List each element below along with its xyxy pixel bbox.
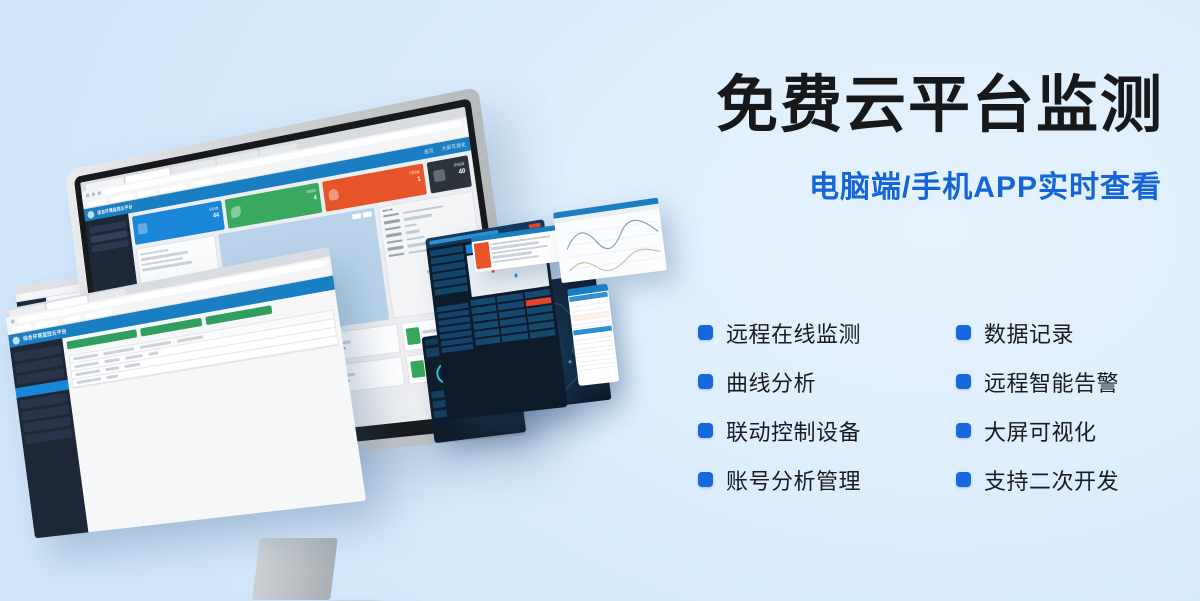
- feature-label: 数据记录: [984, 317, 1074, 349]
- feature-label: 曲线分析: [726, 366, 816, 398]
- stat-label: 在线设备: [306, 188, 316, 194]
- stat-value: 40: [458, 168, 466, 175]
- feature-label: 远程智能告警: [984, 366, 1119, 398]
- bullet-icon: [698, 325, 713, 340]
- promo-text-block: 免费云平台监测 电脑端/手机APP实时查看: [612, 74, 1172, 206]
- feature-item: 数据记录: [956, 308, 1168, 357]
- stat-value: 1: [417, 176, 421, 183]
- leaf-icon: [230, 206, 241, 218]
- chart-window[interactable]: [553, 198, 667, 284]
- bullet-icon: [956, 423, 971, 438]
- bullet-icon: [698, 472, 713, 487]
- feature-item: 曲线分析: [698, 357, 956, 406]
- stat-card-offline[interactable]: 离线设备 40: [427, 155, 472, 193]
- bullet-icon: [956, 374, 971, 389]
- popup-alert-block: [474, 242, 492, 269]
- bullet-icon: [956, 472, 971, 487]
- map-toggle-satellite[interactable]: [352, 213, 361, 220]
- nav-bigscreen[interactable]: 大屏可视化: [441, 141, 466, 152]
- monitor-neck: [252, 538, 338, 600]
- feature-list: 远程在线监测 数据记录 曲线分析 远程智能告警 联动控制设备 大屏可视化 账号分…: [698, 308, 1168, 504]
- stat-value: 4: [313, 195, 317, 202]
- devices-icon: [137, 223, 148, 235]
- bullet-icon: [698, 423, 713, 438]
- feature-item: 支持二次开发: [956, 455, 1168, 504]
- feature-label: 大屏可视化: [984, 415, 1097, 447]
- feature-label: 远程在线监测: [726, 317, 861, 349]
- feature-item: 远程智能告警: [956, 357, 1168, 406]
- bell-icon: [328, 188, 339, 201]
- feature-label: 联动控制设备: [726, 415, 861, 447]
- feature-label: 支持二次开发: [984, 464, 1119, 496]
- feature-label: 账号分析管理: [726, 464, 861, 496]
- feature-item: 联动控制设备: [698, 406, 956, 455]
- cloud-logo-icon: [87, 210, 94, 219]
- promo-banner: 综合环境监控云平台 首页 大屏可视化: [0, 0, 1200, 601]
- nav-home[interactable]: 首页: [424, 147, 434, 155]
- feature-item: 大屏可视化: [956, 406, 1168, 455]
- page-subtitle: 电脑端/手机APP实时查看: [612, 162, 1172, 206]
- map-toggle-plain[interactable]: [363, 211, 372, 218]
- cloud-logo-icon: [12, 336, 20, 345]
- bullet-icon: [698, 374, 713, 389]
- stat-value: 44: [213, 213, 220, 220]
- stat-label: 设备总数: [209, 206, 219, 212]
- page-title: 免费云平台监测: [612, 74, 1172, 138]
- feature-item: 账号分析管理: [698, 455, 956, 504]
- stat-label: 告警设备: [409, 169, 420, 175]
- bullet-icon: [956, 325, 971, 340]
- offline-icon: [433, 169, 446, 182]
- stat-label: 离线设备: [453, 161, 464, 167]
- feature-item: 远程在线监测: [698, 308, 956, 357]
